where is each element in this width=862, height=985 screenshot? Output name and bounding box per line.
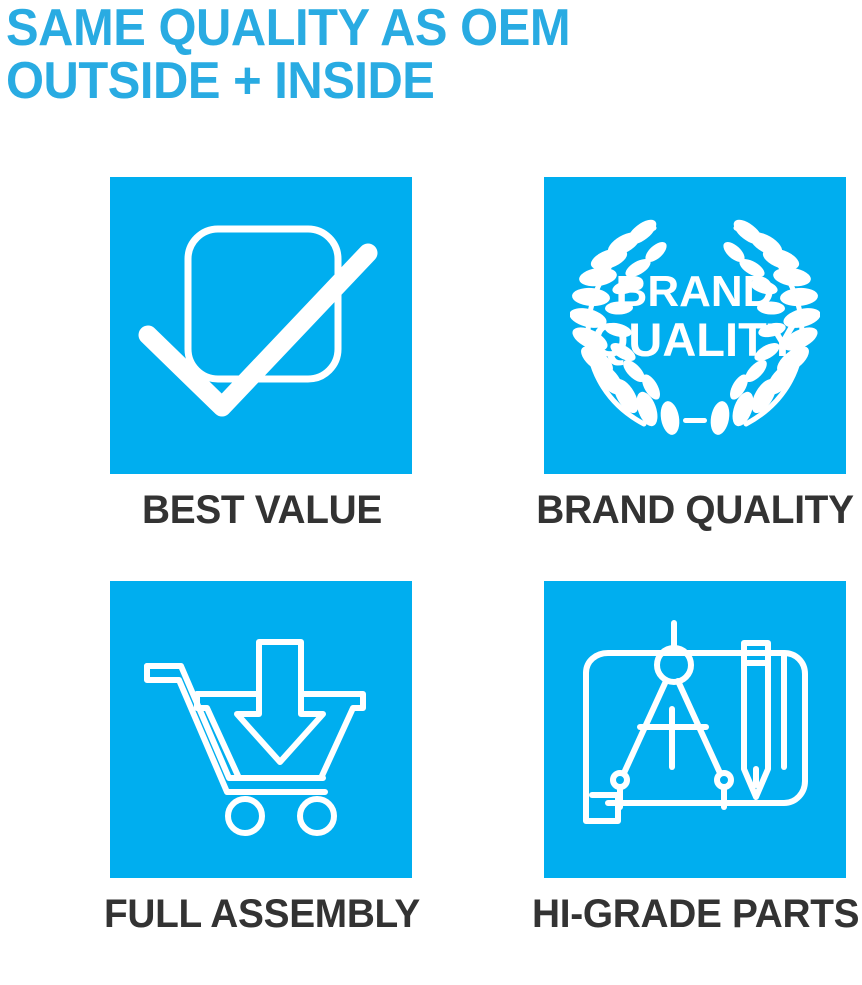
page-title: SAME QUALITY AS OEM OUTSIDE + INSIDE bbox=[6, 2, 805, 108]
shopping-cart-download-icon bbox=[141, 622, 381, 837]
checkbox-check-icon bbox=[136, 211, 386, 441]
feature-full-assembly: FULL ASSEMBLY bbox=[94, 581, 430, 936]
headline-line-2: OUTSIDE + INSIDE bbox=[6, 55, 805, 108]
laurel-badge-line-1: BRAND bbox=[616, 267, 775, 316]
feature-icon-tile bbox=[544, 581, 846, 878]
feature-icon-tile: BRAND QUALITY bbox=[544, 177, 846, 474]
feature-best-value: BEST VALUE bbox=[94, 177, 430, 532]
feature-hi-grade-parts: HI-GRADE PARTS bbox=[527, 581, 862, 936]
feature-caption: BRAND QUALITY bbox=[532, 488, 858, 532]
feature-caption: BEST VALUE bbox=[99, 488, 425, 532]
feature-row-top: BEST VALUE bbox=[0, 177, 862, 581]
headline-line-1: SAME QUALITY AS OEM bbox=[6, 2, 805, 55]
feature-brand-quality: BRAND QUALITY BRAND QUALITY bbox=[527, 177, 862, 532]
promo-infographic: SAME QUALITY AS OEM OUTSIDE + INSIDE BES… bbox=[0, 0, 862, 929]
feature-icon-tile bbox=[110, 581, 412, 878]
feature-icon-tile bbox=[110, 177, 412, 474]
feature-caption: HI-GRADE PARTS bbox=[532, 892, 858, 936]
feature-grid: BEST VALUE bbox=[0, 177, 862, 985]
laurel-wreath-icon: BRAND QUALITY bbox=[570, 208, 820, 443]
blueprint-compass-pencil-icon bbox=[578, 617, 813, 842]
feature-caption: FULL ASSEMBLY bbox=[99, 892, 425, 936]
laurel-badge-line-2: QUALITY bbox=[592, 313, 798, 366]
feature-row-bottom: FULL ASSEMBLY bbox=[0, 581, 862, 985]
